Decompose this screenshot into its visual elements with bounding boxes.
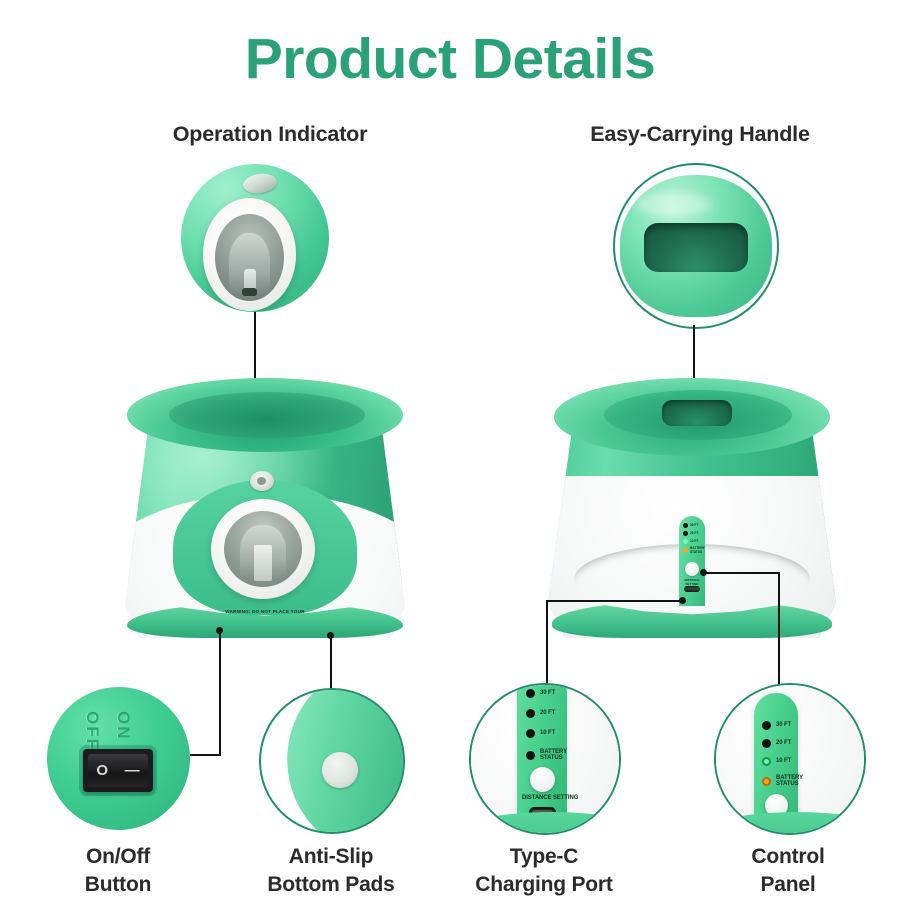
launch-pocket-inner [229,233,270,294]
caption-control-panel-line-1: Control [708,843,868,871]
front-launch-socket-ring [211,499,315,599]
usb-c-port[interactable] [684,586,700,592]
led-20ft-label: 20 FT [776,740,791,746]
led-10ft-label: 10 FT [540,730,555,736]
caption-on-off-button: On/Off Button [38,843,198,899]
detail-circle-anti-slip-pads [259,688,405,834]
led-battery-status-label: BATTERY STATUS [776,775,803,788]
rocker-off-symbol: O [96,763,108,778]
led-30ft-label: 30 FT [540,690,555,696]
page-title: Product Details [0,26,900,92]
caption-on-off-line-2: Button [38,871,198,899]
led-30ft-icon [762,721,771,730]
led-row-20ft: 20 FT [762,739,791,748]
led-10ft-label: 10 FT [690,540,698,544]
connector-line-type-c-vertical [546,600,548,696]
led-10ft-label: 10 FT [776,758,791,764]
switch-off-label: OFF [82,711,102,751]
distance-setting-label: DISTANCE SETTING [680,578,704,586]
product-back-view: 30 FT 20 FT 10 FT BATTERY STATUS DISTANC… [548,378,836,638]
launch-pocket-hole [215,214,284,302]
connector-line-control-panel-vertical [778,572,780,694]
operation-indicator-light [250,471,274,491]
led-row: 10 FT [683,539,705,544]
distance-setting-label: DISTANCE SETTING [522,795,578,801]
handle-slot [644,223,748,272]
type-c-base-edge [469,812,621,835]
caption-control-panel: Control Panel [708,843,868,899]
led-battery-status-icon [683,548,688,553]
led-row-10ft: 10 FT [762,757,791,766]
control-panel-strip: 30 FT 20 FT 10 FT BATTERY STATUS DISTANC… [679,516,705,606]
detail-circle-type-c-port: 30 FT 20 FT 10 FT BATTERY STATUS DISTANC… [469,683,621,835]
led-30ft-icon [526,689,535,698]
led-row-battery-status: BATTERY STATUS [762,775,803,788]
led-20ft-label: 20 FT [540,710,555,716]
led-row-20ft: 20 FT [526,709,555,718]
detail-circle-operation-indicator [181,164,329,312]
led-battery-status-label: BATTERY STATUS [540,749,567,762]
rocker-switch-bezel: O — [83,749,153,792]
control-panel-base-edge [714,812,866,835]
carrying-handle-slot [662,400,732,426]
led-row-battery-status: BATTERY STATUS [526,749,567,762]
detail-circle-control-panel: 30 FT 20 FT 10 FT BATTERY STATUS DISTANC… [714,683,866,835]
detail-circle-on-off-button: OFF ON O — [47,687,190,830]
distance-setting-button[interactable] [685,562,699,576]
caption-type-c-line-1: Type-C [458,843,630,871]
led-row-30ft: 30 FT [762,721,791,730]
handle-highlight [635,192,711,218]
type-c-panel-strip: 30 FT 20 FT 10 FT BATTERY STATUS DISTANC… [517,683,567,827]
caption-control-panel-line-2: Panel [708,871,868,899]
caption-on-off-line-1: On/Off [38,843,198,871]
led-30ft-label: 30 FT [690,524,698,528]
led-20ft-label: 20 FT [690,532,698,536]
switch-on-label: ON [113,711,133,741]
front-launch-socket-inner [240,525,286,581]
front-launch-socket-bar [254,545,272,581]
led-battery-status-label: BATTERY STATUS [690,547,705,554]
anti-slip-pad [322,752,358,788]
connector-line-anti-slip [330,636,332,688]
caption-type-c-port: Type-C Charging Port [458,843,630,899]
led-battery-status-icon [762,777,771,786]
launch-funnel [203,198,296,310]
led-battery-status-icon [526,751,535,760]
led-20ft-icon [683,531,688,536]
product-front-view: WARNING: DO NOT PLACE YOUR HAND INSIDE T… [125,378,405,638]
launch-clip [242,288,257,295]
rocker-on-symbol: — [125,763,140,778]
detail-circle-carrying-handle [613,163,779,329]
led-10ft-icon [526,729,535,738]
led-row-10ft: 10 FT [526,729,555,738]
caption-type-c-line-2: Charging Port [458,871,630,899]
led-10ft-icon [762,757,771,766]
connector-line-control-panel-horizontal [704,572,780,574]
caption-easy-carrying-handle: Easy-Carrying Handle [555,120,845,149]
caption-operation-indicator: Operation Indicator [130,120,410,149]
led-row: 30 FT [683,523,705,528]
caption-anti-slip-line-2: Bottom Pads [245,871,417,899]
distance-setting-button[interactable] [530,767,555,792]
led-20ft-icon [762,739,771,748]
control-panel-led-list: 30 FT 20 FT 10 FT BATTERY STATUS [683,523,705,554]
connector-line-on-off-vertical [219,631,221,755]
led-row: BATTERY STATUS [683,547,705,554]
led-10ft-icon [683,539,688,544]
led-20ft-icon [526,709,535,718]
connector-line-type-c-horizontal [546,600,682,602]
connector-line-on-off-horizontal [188,754,221,756]
caption-anti-slip-line-1: Anti-Slip [245,843,417,871]
front-bowl-cavity [169,392,365,438]
caption-anti-slip-pads: Anti-Slip Bottom Pads [245,843,417,899]
led-row-30ft: 30 FT [526,689,555,698]
front-rim [127,378,403,452]
rocker-switch[interactable]: O — [88,754,148,787]
usb-c-port[interactable] [765,833,789,835]
product-details-infographic: Product Details Operation Indicator Easy… [0,0,900,900]
front-launch-socket-hole [224,511,302,587]
led-30ft-label: 30 FT [776,722,791,728]
led-30ft-icon [683,523,688,528]
led-row: 20 FT [683,531,705,536]
